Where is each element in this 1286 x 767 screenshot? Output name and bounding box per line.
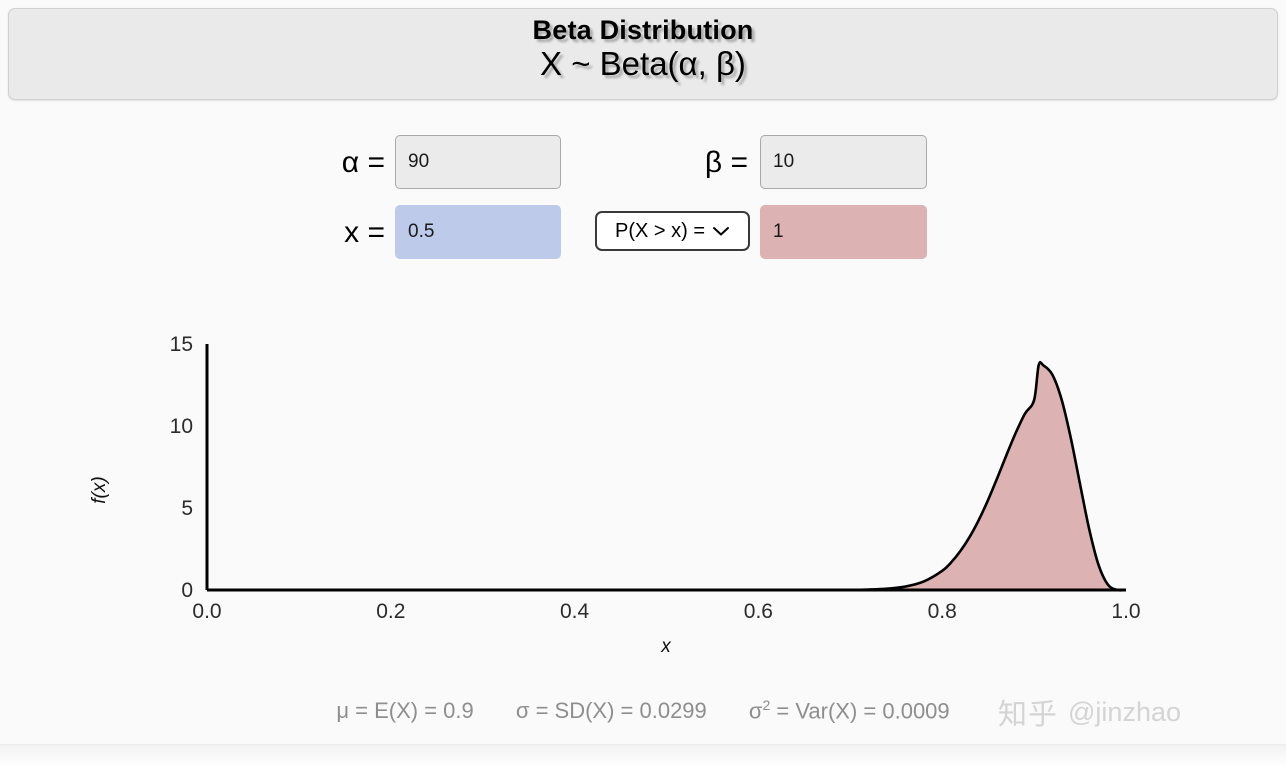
- x-tick-label: 0.6: [744, 600, 773, 623]
- x-axis-tick-labels: 0.00.20.40.60.81.0: [192, 600, 1140, 623]
- probability-value-output[interactable]: 1: [760, 205, 927, 259]
- x-tick-label: 0.4: [560, 600, 590, 623]
- stat-sd: σ = SD(X) = 0.0299: [516, 698, 707, 724]
- summary-statistics: μ = E(X) = 0.9 σ = SD(X) = 0.0299 σ2 = V…: [0, 697, 1286, 724]
- density-plot: 051015 0.00.20.40.60.81.0 f(x) x: [0, 300, 1286, 680]
- beta-label: β =: [600, 135, 748, 191]
- x-tick-label: 0.8: [928, 600, 957, 623]
- beta-input[interactable]: 10: [760, 135, 927, 189]
- stat-variance-sigma: σ: [749, 698, 763, 723]
- stat-variance-rest: = Var(X) = 0.0009: [770, 698, 949, 723]
- y-tick-label: 15: [170, 333, 193, 356]
- x-tick-label: 1.0: [1111, 600, 1140, 623]
- y-axis-title: f(x): [89, 476, 110, 503]
- density-area-shaded: [667, 362, 1127, 590]
- y-tick-label: 0: [181, 579, 193, 602]
- probability-row: x = 0.5 P(X > x) = 1: [0, 205, 1286, 261]
- x-label: x =: [240, 205, 385, 261]
- probability-type-dropdown[interactable]: P(X > x) =: [595, 211, 750, 251]
- page-title: Beta Distribution: [9, 16, 1277, 44]
- x-input[interactable]: 0.5: [395, 205, 561, 259]
- y-tick-label: 5: [181, 497, 193, 520]
- chevron-down-icon: [712, 225, 730, 237]
- probability-type-label: P(X > x) =: [615, 220, 705, 243]
- x-tick-label: 0.0: [192, 600, 221, 623]
- x-axis-title: x: [660, 636, 672, 657]
- header-panel: Beta Distribution X ~ Beta(α, β): [8, 8, 1278, 100]
- alpha-label: α =: [240, 135, 385, 191]
- y-axis-tick-labels: 051015: [170, 333, 193, 602]
- plot-svg: 051015 0.00.20.40.60.81.0 f(x) x: [0, 300, 1286, 680]
- parameters-row: α = 90 β = 10: [0, 135, 1286, 191]
- stat-variance: σ2 = Var(X) = 0.0009: [749, 697, 950, 724]
- controls-panel: α = 90 β = 10 x = 0.5 P(X > x) = 1: [0, 128, 1286, 273]
- page-subtitle: X ~ Beta(α, β): [9, 45, 1277, 84]
- bottom-strip: [0, 744, 1286, 767]
- stat-mean: μ = E(X) = 0.9: [336, 698, 473, 724]
- y-tick-label: 10: [170, 415, 193, 438]
- alpha-input[interactable]: 90: [395, 135, 561, 189]
- x-tick-label: 0.2: [376, 600, 405, 623]
